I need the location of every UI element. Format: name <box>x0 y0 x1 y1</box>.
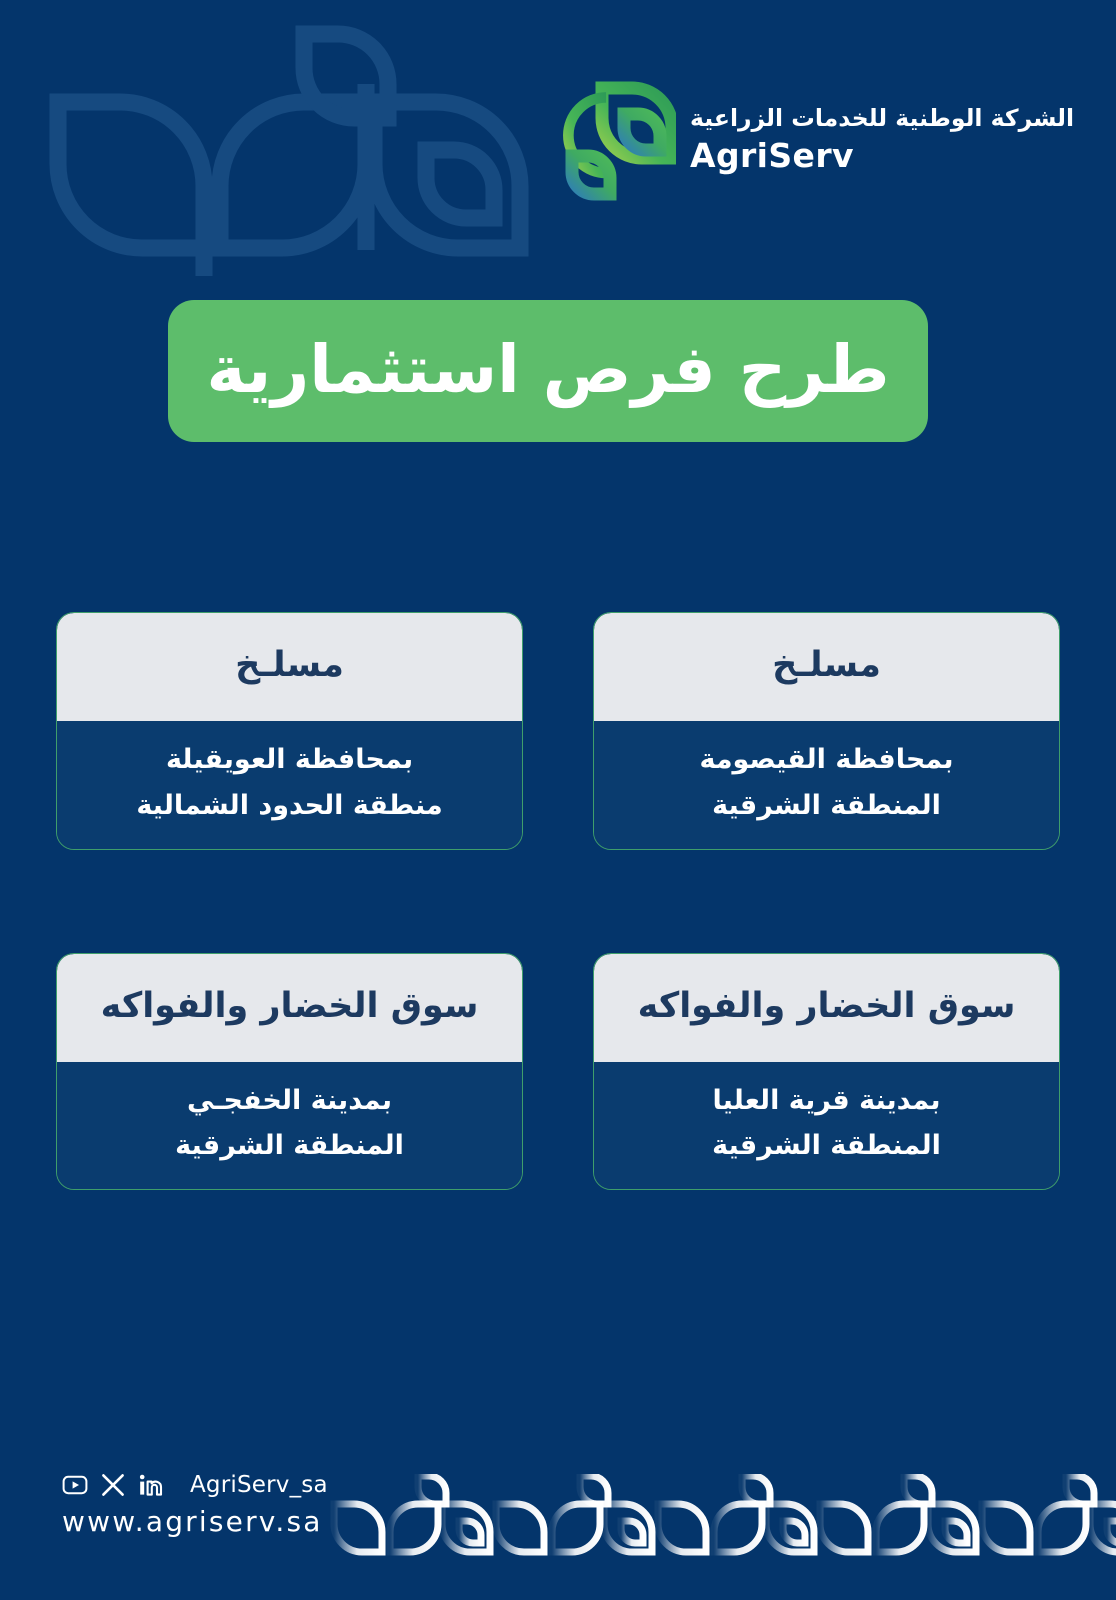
card-location-line: بمدينة قرية العليا <box>713 1084 941 1118</box>
brand-text-block: الشركة الوطنية للخدمات الزراعية AgriServ <box>690 105 1074 175</box>
page-title: طرح فرص استثمارية <box>206 331 889 408</box>
x-twitter-icon[interactable] <box>100 1472 126 1498</box>
leaf-vine-watermark-icon <box>36 22 556 287</box>
card-title: سوق الخضار والفواكه <box>101 986 479 1026</box>
card-header: مسلـخ <box>594 613 1059 721</box>
card-location-line: بمحافظة القيصومة <box>699 743 953 777</box>
social-handle[interactable]: AgriServ_sa <box>190 1472 328 1498</box>
leaf-vine-border-icon <box>330 1474 1116 1572</box>
card-title: مسلـخ <box>235 645 344 685</box>
card-body: بمحافظة العويقيلة منطقة الحدود الشمالية <box>57 721 522 849</box>
leaf-logo-icon <box>558 74 676 206</box>
card-region-line: المنطقة الشرقية <box>175 1129 404 1163</box>
card-region-line: المنطقة الشرقية <box>712 1129 941 1163</box>
youtube-icon[interactable] <box>62 1472 88 1498</box>
card-region-line: المنطقة الشرقية <box>712 789 941 823</box>
card-header: سوق الخضار والفواكه <box>594 954 1059 1062</box>
opportunity-card[interactable]: مسلـخ بمحافظة القيصومة المنطقة الشرقية <box>593 612 1060 850</box>
card-body: بمدينة الخفجـي المنطقة الشرقية <box>57 1062 522 1190</box>
opportunity-cards-grid: مسلـخ بمحافظة القيصومة المنطقة الشرقية م… <box>56 612 1060 1190</box>
brand-header: الشركة الوطنية للخدمات الزراعية AgriServ <box>558 74 1074 206</box>
poster-root: الشركة الوطنية للخدمات الزراعية AgriServ <box>0 0 1116 1600</box>
card-header: سوق الخضار والفواكه <box>57 954 522 1062</box>
linkedin-icon[interactable] <box>138 1472 166 1498</box>
card-header: مسلـخ <box>57 613 522 721</box>
card-location-line: بمحافظة العويقيلة <box>166 743 413 777</box>
card-title: مسلـخ <box>772 645 881 685</box>
card-body: بمحافظة القيصومة المنطقة الشرقية <box>594 721 1059 849</box>
brand-arabic-name: الشركة الوطنية للخدمات الزراعية <box>690 105 1074 132</box>
card-title: سوق الخضار والفواكه <box>638 986 1016 1026</box>
footer-contact-block: AgriServ_sa www.agriserv.sa <box>62 1472 328 1538</box>
card-body: بمدينة قرية العليا المنطقة الشرقية <box>594 1062 1059 1190</box>
opportunity-card[interactable]: سوق الخضار والفواكه بمدينة قرية العليا ا… <box>593 953 1060 1191</box>
card-region-line: منطقة الحدود الشمالية <box>136 789 442 823</box>
opportunity-card[interactable]: مسلـخ بمحافظة العويقيلة منطقة الحدود الش… <box>56 612 523 850</box>
brand-english-name: AgriServ <box>690 137 854 175</box>
opportunity-card[interactable]: سوق الخضار والفواكه بمدينة الخفجـي المنط… <box>56 953 523 1191</box>
footer: AgriServ_sa www.agriserv.sa <box>0 1420 1116 1600</box>
card-location-line: بمدينة الخفجـي <box>187 1084 392 1118</box>
social-links-row: AgriServ_sa <box>62 1472 328 1498</box>
website-url[interactable]: www.agriserv.sa <box>62 1505 323 1538</box>
page-title-banner: طرح فرص استثمارية <box>168 300 928 442</box>
